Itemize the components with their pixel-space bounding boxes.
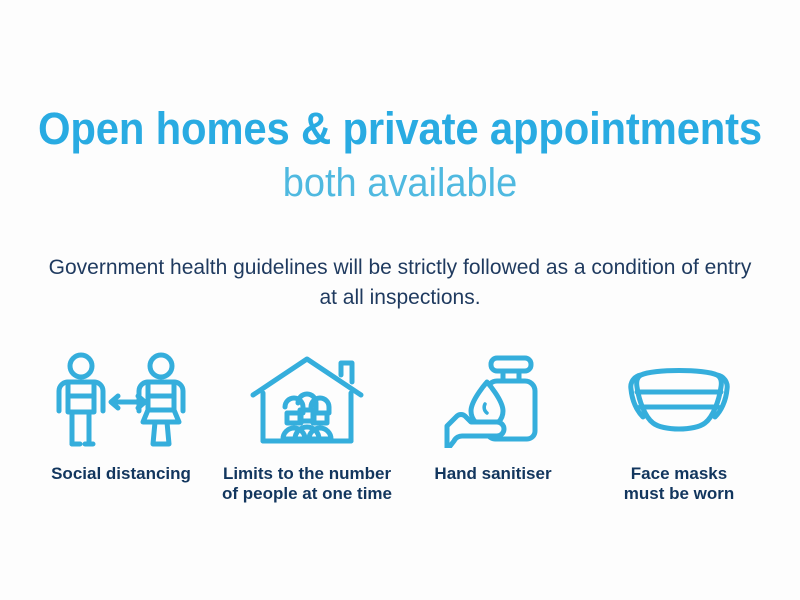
safety-measure-social-distancing: Social distancing bbox=[28, 350, 214, 484]
face-mask-icon bbox=[619, 350, 739, 450]
safety-measure-label: Face masks must be worn bbox=[624, 464, 735, 504]
hand-sanitiser-icon bbox=[441, 350, 545, 450]
safety-measure-hand-sanitiser: Hand sanitiser bbox=[400, 350, 586, 484]
safety-measure-label: Hand sanitiser bbox=[434, 464, 551, 484]
safety-measure-occupancy-limits: Limits to the number of people at one ti… bbox=[214, 350, 400, 504]
page-subtitle: both available bbox=[20, 161, 780, 205]
safety-measure-label: Social distancing bbox=[51, 464, 191, 484]
covid-safety-poster: Open homes & private appointments both a… bbox=[0, 0, 800, 600]
safety-measures-row: Social distancing bbox=[28, 350, 772, 504]
page-title: Open homes & private appointments bbox=[28, 103, 772, 155]
body-copy: Government health guidelines will be str… bbox=[40, 253, 760, 313]
social-distancing-icon bbox=[51, 350, 191, 450]
safety-measure-face-mask: Face masks must be worn bbox=[586, 350, 772, 504]
headline-block: Open homes & private appointments both a… bbox=[0, 103, 800, 205]
safety-measure-label: Limits to the number of people at one ti… bbox=[222, 464, 392, 504]
house-occupancy-limit-icon bbox=[249, 350, 365, 450]
